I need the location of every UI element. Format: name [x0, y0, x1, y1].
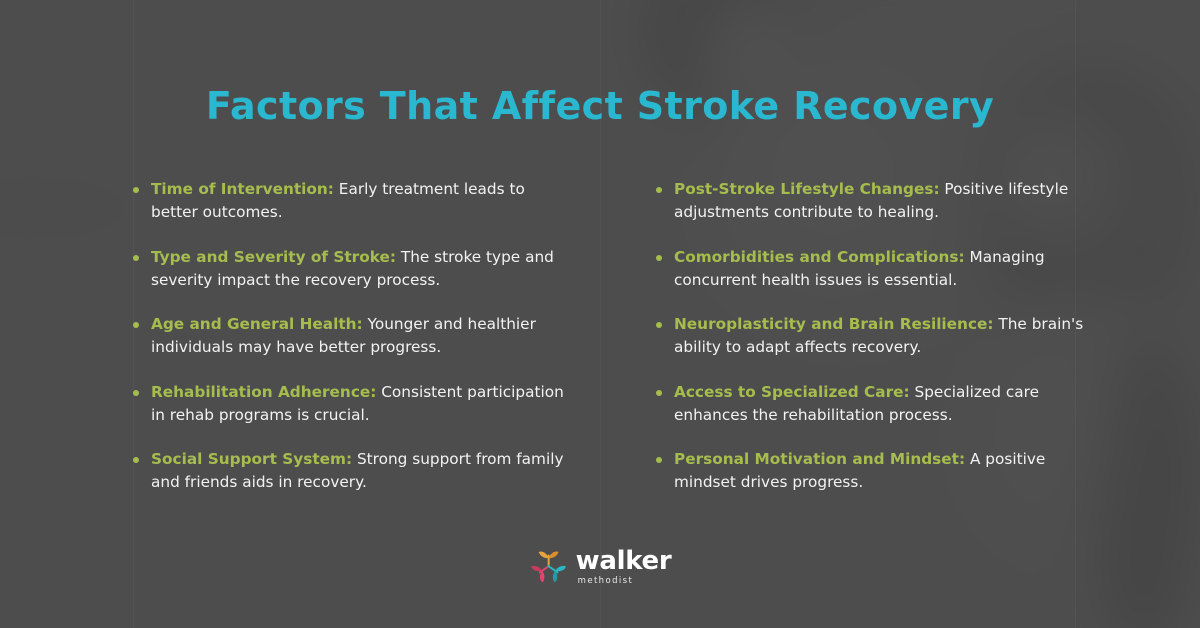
logo-name: walker — [576, 548, 672, 574]
list-item-label: Neuroplasticity and Brain Resilience: — [674, 315, 994, 333]
list-item-text: Time of Intervention: Early treatment le… — [151, 178, 570, 225]
bullet-dot-icon — [656, 255, 662, 261]
bullet-dot-icon — [133, 187, 139, 193]
list-item: Post-Stroke Lifestyle Changes: Positive … — [656, 178, 1093, 225]
list-item: Access to Specialized Care: Specialized … — [656, 381, 1093, 428]
list-item-text: Rehabilitation Adherence: Consistent par… — [151, 381, 570, 428]
infographic-poster: Factors That Affect Stroke Recovery Time… — [0, 0, 1200, 628]
bullet-dot-icon — [656, 322, 662, 328]
list-item: Type and Severity of Stroke: The stroke … — [133, 246, 570, 293]
list-item: Neuroplasticity and Brain Resilience: Th… — [656, 313, 1093, 360]
list-item: Time of Intervention: Early treatment le… — [133, 178, 570, 225]
bullet-dot-icon — [133, 255, 139, 261]
list-item-label: Post-Stroke Lifestyle Changes: — [674, 180, 940, 198]
list-item: Age and General Health: Younger and heal… — [133, 313, 570, 360]
logo-subtitle: methodist — [578, 577, 672, 586]
list-item-text: Age and General Health: Younger and heal… — [151, 313, 570, 360]
list-item-label: Comorbidities and Complications: — [674, 248, 965, 266]
bullet-dot-icon — [656, 390, 662, 396]
list-item-text: Social Support System: Strong support fr… — [151, 448, 570, 495]
list-item-text: Neuroplasticity and Brain Resilience: Th… — [674, 313, 1093, 360]
brand-logo[interactable]: walker methodist — [529, 548, 672, 586]
sprout-pinwheel-icon — [529, 548, 569, 586]
list-item: Rehabilitation Adherence: Consistent par… — [133, 381, 570, 428]
list-item-text: Post-Stroke Lifestyle Changes: Positive … — [674, 178, 1093, 225]
poster-content: Factors That Affect Stroke Recovery Time… — [0, 0, 1200, 628]
page-title: Factors That Affect Stroke Recovery — [0, 84, 1200, 128]
factor-columns: Time of Intervention: Early treatment le… — [133, 178, 1093, 495]
list-item-label: Rehabilitation Adherence: — [151, 383, 376, 401]
list-item-label: Social Support System: — [151, 450, 352, 468]
factor-column-right: Post-Stroke Lifestyle Changes: Positive … — [656, 178, 1093, 495]
list-item: Personal Motivation and Mindset: A posit… — [656, 448, 1093, 495]
logo-wordmark: walker methodist — [576, 548, 672, 586]
list-item-text: Personal Motivation and Mindset: A posit… — [674, 448, 1093, 495]
bullet-dot-icon — [133, 390, 139, 396]
list-item-label: Time of Intervention: — [151, 180, 334, 198]
list-item: Social Support System: Strong support fr… — [133, 448, 570, 495]
bullet-dot-icon — [133, 457, 139, 463]
list-item-text: Type and Severity of Stroke: The stroke … — [151, 246, 570, 293]
list-item-label: Age and General Health: — [151, 315, 363, 333]
bullet-dot-icon — [656, 187, 662, 193]
list-item-label: Type and Severity of Stroke: — [151, 248, 396, 266]
bullet-dot-icon — [133, 322, 139, 328]
list-item-label: Access to Specialized Care: — [674, 383, 910, 401]
list-item-label: Personal Motivation and Mindset: — [674, 450, 965, 468]
factor-column-left: Time of Intervention: Early treatment le… — [133, 178, 570, 495]
list-item-text: Comorbidities and Complications: Managin… — [674, 246, 1093, 293]
list-item-text: Access to Specialized Care: Specialized … — [674, 381, 1093, 428]
bullet-dot-icon — [656, 457, 662, 463]
list-item: Comorbidities and Complications: Managin… — [656, 246, 1093, 293]
